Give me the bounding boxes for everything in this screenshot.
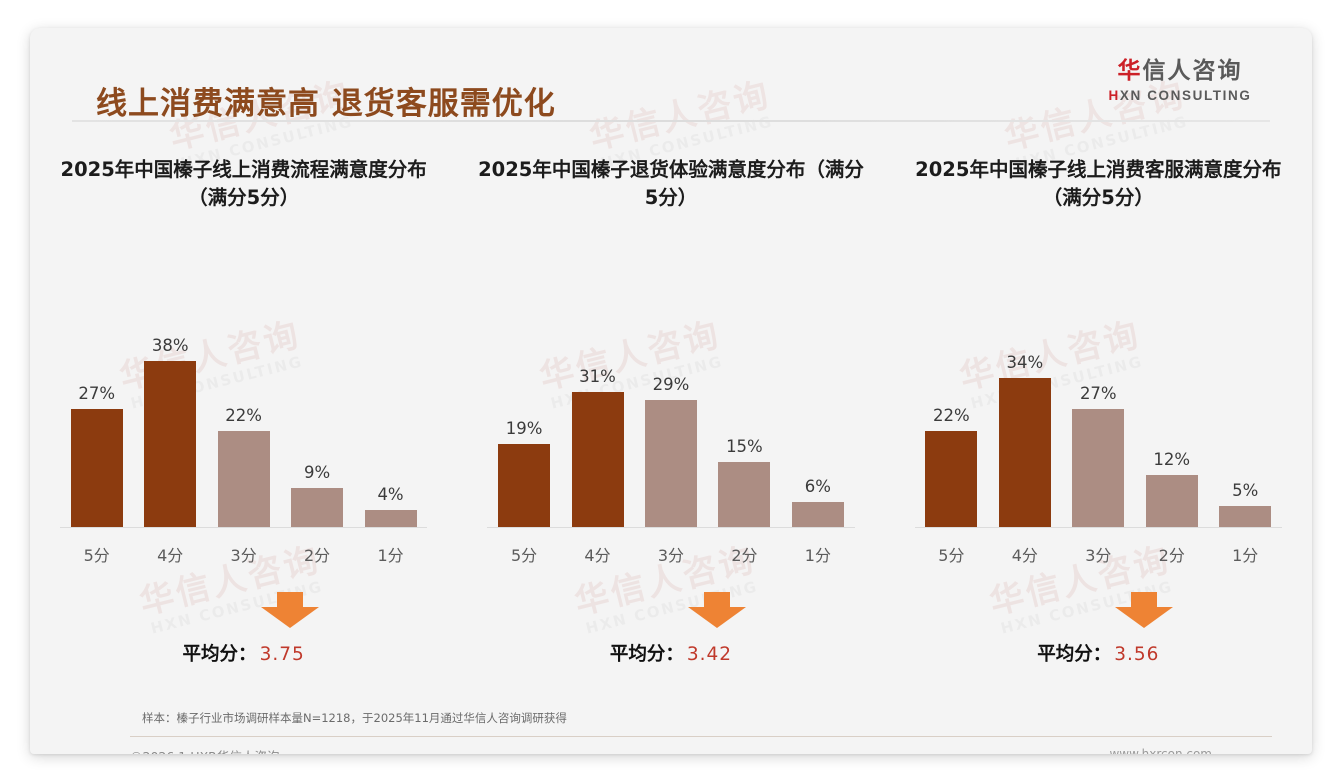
chart-title: 2025年中国榛子线上消费客服满意度分布（满分5分） xyxy=(899,156,1298,216)
bar-value-label: 27% xyxy=(78,384,115,403)
bar-slot[interactable]: 5% xyxy=(1208,278,1281,528)
x-axis-tick: 3分 xyxy=(1062,542,1135,566)
bars-container: 27% 38% 22% 9% xyxy=(60,278,427,528)
average-value: 3.42 xyxy=(687,644,732,665)
bar-chart: 27% 38% 22% 9% xyxy=(44,278,443,528)
bar-slot[interactable]: 9% xyxy=(280,278,353,528)
slide-footer: ©2026.1 HXR华信人咨询 www.hxrcon.com xyxy=(30,742,1312,754)
charts-row: 2025年中国榛子线上消费流程满意度分布（满分5分） 27% 38% 22% xyxy=(30,156,1312,666)
x-axis-tick: 5分 xyxy=(60,542,133,566)
logo-letters-rest: XN CONSULTING xyxy=(1120,88,1252,103)
bar[interactable] xyxy=(718,462,770,528)
bar[interactable] xyxy=(498,444,550,528)
bar-value-label: 27% xyxy=(1080,384,1117,403)
x-axis-tick: 5分 xyxy=(915,542,988,566)
bar-chart: 19% 31% 29% 15% xyxy=(471,278,870,528)
bar[interactable] xyxy=(792,502,844,528)
slide-header: 线上消费满意高 退货客服需优化 华信人咨询 HXN CONSULTING xyxy=(30,28,1312,120)
x-axis-tick: 1分 xyxy=(1208,542,1281,566)
average-label: 平均分： xyxy=(1037,644,1111,665)
bar-value-label: 5% xyxy=(1232,481,1258,500)
average-annotation: 平均分：3.75 xyxy=(44,592,443,666)
bar[interactable] xyxy=(999,378,1051,528)
x-axis-labels: 5分 4分 3分 2分 1分 xyxy=(487,528,854,566)
logo-english-text: HXN CONSULTING xyxy=(1090,89,1270,103)
average-label: 平均分： xyxy=(610,644,684,665)
x-axis-tick: 4分 xyxy=(133,542,206,566)
average-score: 平均分：3.42 xyxy=(610,640,732,666)
bar-value-label: 34% xyxy=(1006,353,1043,372)
bar[interactable] xyxy=(1219,506,1271,528)
x-axis-tick: 4分 xyxy=(561,542,634,566)
x-axis-tick: 2分 xyxy=(708,542,781,566)
average-value: 3.56 xyxy=(1114,644,1159,665)
chart-panel-1: 2025年中国榛子线上消费流程满意度分布（满分5分） 27% 38% 22% xyxy=(30,156,457,666)
logo-chars-rest: 信人咨询 xyxy=(1143,58,1243,84)
bar-value-label: 15% xyxy=(726,437,763,456)
chart-panel-3: 2025年中国榛子线上消费客服满意度分布（满分5分） 22% 34% 27% xyxy=(885,156,1312,666)
bars-container: 22% 34% 27% 12% xyxy=(915,278,1282,528)
bar[interactable] xyxy=(218,431,270,528)
logo-char-hua: 华 xyxy=(1118,58,1143,84)
bar-slot[interactable]: 6% xyxy=(781,278,854,528)
bar-value-label: 29% xyxy=(653,375,690,394)
bar-slot[interactable]: 34% xyxy=(988,278,1061,528)
x-axis-tick: 1分 xyxy=(354,542,427,566)
bar[interactable] xyxy=(144,361,196,528)
arrow-down-icon xyxy=(688,592,746,628)
x-axis-tick: 3分 xyxy=(207,542,280,566)
bar-value-label: 22% xyxy=(225,406,262,425)
page-title: 线上消费满意高 退货客服需优化 xyxy=(96,78,556,123)
average-label: 平均分： xyxy=(183,644,257,665)
source-footnote: 样本：榛子行业市场调研样本量N=1218，于2025年11月通过华信人咨询调研获… xyxy=(142,710,567,726)
arrow-down-icon xyxy=(1115,592,1173,628)
x-axis-tick: 5分 xyxy=(487,542,560,566)
arrow-down-icon xyxy=(261,592,319,628)
bar-slot[interactable]: 15% xyxy=(708,278,781,528)
bar-slot[interactable]: 38% xyxy=(133,278,206,528)
bar-value-label: 31% xyxy=(579,367,616,386)
average-score: 平均分：3.75 xyxy=(183,640,305,666)
logo-chinese-text: 华信人咨询 xyxy=(1090,60,1270,83)
website-link[interactable]: www.hxrcon.com xyxy=(1109,747,1212,754)
average-score: 平均分：3.56 xyxy=(1037,640,1159,666)
bar-slot[interactable]: 27% xyxy=(60,278,133,528)
bar[interactable] xyxy=(365,510,417,528)
x-axis-labels: 5分 4分 3分 2分 1分 xyxy=(915,528,1282,566)
bar-value-label: 22% xyxy=(933,406,970,425)
bar-value-label: 38% xyxy=(152,336,189,355)
bar-value-label: 6% xyxy=(805,477,831,496)
bar-slot[interactable]: 12% xyxy=(1135,278,1208,528)
x-axis-tick: 3分 xyxy=(634,542,707,566)
bar-slot[interactable]: 31% xyxy=(561,278,634,528)
x-axis-tick: 2分 xyxy=(1135,542,1208,566)
bar-slot[interactable]: 19% xyxy=(487,278,560,528)
chart-title: 2025年中国榛子线上消费流程满意度分布（满分5分） xyxy=(44,156,443,216)
x-axis-tick: 2分 xyxy=(280,542,353,566)
bar-value-label: 12% xyxy=(1153,450,1190,469)
copyright-text: ©2026.1 HXR华信人咨询 xyxy=(130,746,279,754)
average-annotation: 平均分：3.56 xyxy=(899,592,1298,666)
average-annotation: 平均分：3.42 xyxy=(471,592,870,666)
bar-slot[interactable]: 22% xyxy=(915,278,988,528)
bar-value-label: 19% xyxy=(506,419,543,438)
logo-letter-h: H xyxy=(1109,88,1120,103)
slide-card: 华信人咨询 HXN CONSULTING 华信人咨询 HXN CONSULTIN… xyxy=(30,28,1312,754)
bar-value-label: 9% xyxy=(304,463,330,482)
bar[interactable] xyxy=(645,400,697,528)
bar[interactable] xyxy=(71,409,123,528)
bar-value-label: 4% xyxy=(377,485,403,504)
bar-slot[interactable]: 4% xyxy=(354,278,427,528)
chart-panel-2: 2025年中国榛子退货体验满意度分布（满分5分） 19% 31% 29% xyxy=(457,156,884,666)
average-value: 3.75 xyxy=(260,644,305,665)
company-logo: 华信人咨询 HXN CONSULTING xyxy=(1090,60,1270,103)
bar-slot[interactable]: 22% xyxy=(207,278,280,528)
x-axis-labels: 5分 4分 3分 2分 1分 xyxy=(60,528,427,566)
bar[interactable] xyxy=(291,488,343,528)
bar-chart: 22% 34% 27% 12% xyxy=(899,278,1298,528)
bars-container: 19% 31% 29% 15% xyxy=(487,278,854,528)
bar[interactable] xyxy=(925,431,977,528)
bar[interactable] xyxy=(1072,409,1124,528)
bar[interactable] xyxy=(572,392,624,528)
header-divider xyxy=(72,120,1270,122)
bar-slot[interactable]: 29% xyxy=(634,278,707,528)
x-axis-tick: 4分 xyxy=(988,542,1061,566)
footer-divider xyxy=(130,736,1272,737)
bar-slot[interactable]: 27% xyxy=(1062,278,1135,528)
x-axis-tick: 1分 xyxy=(781,542,854,566)
chart-title: 2025年中国榛子退货体验满意度分布（满分5分） xyxy=(471,156,870,216)
bar[interactable] xyxy=(1146,475,1198,528)
